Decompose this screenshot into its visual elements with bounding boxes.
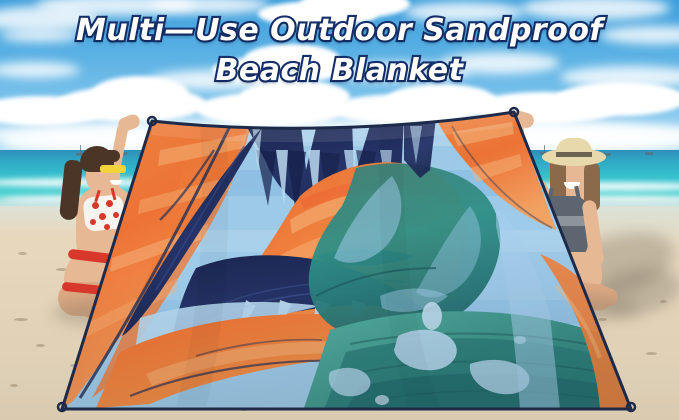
product-banner: Multi—Use Outdoor Sandproof Beach Blanke… bbox=[0, 0, 679, 420]
headline-line-2: Beach Blanket bbox=[0, 53, 679, 89]
headline-line-2-text: Beach Blanket bbox=[216, 53, 464, 88]
headline-line-1-text: Multi—Use Outdoor Sandproof bbox=[76, 13, 603, 48]
blanket-pattern bbox=[40, 100, 664, 420]
headline-line-1: Multi—Use Outdoor Sandproof bbox=[0, 13, 679, 49]
